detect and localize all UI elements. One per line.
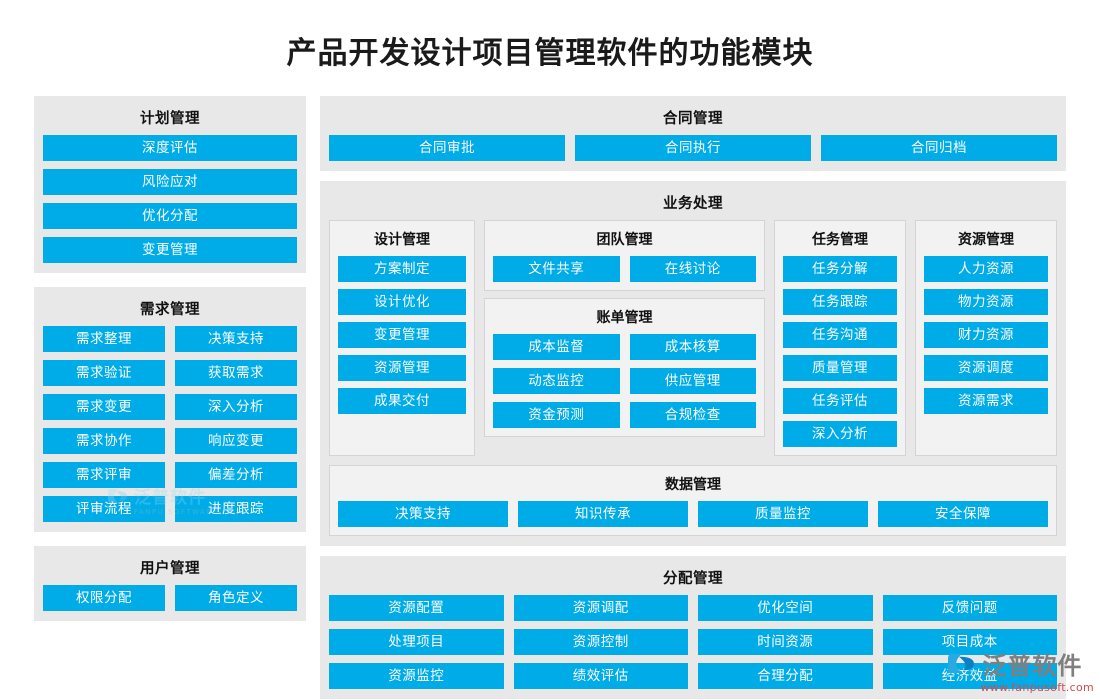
module-chip[interactable]: 角色定义: [175, 585, 297, 611]
diagram-canvas: 产品开发设计项目管理软件的功能模块 计划管理 深度评估 风险应对 优化分配 变更…: [0, 0, 1100, 700]
module-chip[interactable]: 深入分析: [783, 421, 897, 447]
module-chip[interactable]: 需求验证: [43, 360, 165, 386]
section-requirement-management: 需求管理 需求整理 决策支持 需求验证 获取需求 需求变更 深入分析 需求协作 …: [34, 287, 306, 532]
user-items: 权限分配 角色定义: [43, 585, 297, 611]
module-chip[interactable]: 合同审批: [329, 135, 565, 161]
section-title: 用户管理: [43, 554, 297, 585]
module-chip[interactable]: 供应管理: [630, 368, 757, 394]
module-chip[interactable]: 成果交付: [338, 388, 466, 414]
module-chip[interactable]: 评审流程: [43, 496, 165, 522]
module-chip[interactable]: 资金预测: [493, 402, 620, 428]
module-chip[interactable]: 在线讨论: [630, 256, 757, 282]
module-chip[interactable]: 资源需求: [924, 388, 1048, 414]
section-plan-management: 计划管理 深度评估 风险应对 优化分配 变更管理: [34, 96, 306, 273]
section-title: 计划管理: [43, 104, 297, 135]
section-title: 合同管理: [329, 104, 1057, 135]
module-chip[interactable]: 质量监控: [698, 501, 868, 527]
business-columns: 设计管理 方案制定 设计优化 变更管理 资源管理 成果交付 团队管理 文件共享: [329, 220, 1057, 456]
module-chip[interactable]: 需求变更: [43, 394, 165, 420]
section-allocation-management: 分配管理 资源配置 资源调配 优化空间 反馈问题 处理项目 资源控制 时间资源 …: [320, 556, 1066, 699]
section-title: 需求管理: [43, 295, 297, 326]
module-chip[interactable]: 成本监督: [493, 334, 620, 360]
module-chip[interactable]: 物力资源: [924, 289, 1048, 315]
card-title: 团队管理: [493, 227, 756, 256]
allocation-items: 资源配置 资源调配 优化空间 反馈问题 处理项目 资源控制 时间资源 项目成本 …: [329, 595, 1057, 689]
module-chip[interactable]: 知识传承: [518, 501, 688, 527]
module-chip[interactable]: 进度跟踪: [175, 496, 297, 522]
module-chip[interactable]: 深入分析: [175, 394, 297, 420]
requirement-items: 需求整理 决策支持 需求验证 获取需求 需求变更 深入分析 需求协作 响应变更 …: [43, 326, 297, 522]
section-user-management: 用户管理 权限分配 角色定义: [34, 546, 306, 621]
module-chip[interactable]: 处理项目: [329, 629, 504, 655]
module-chip[interactable]: 任务沟通: [783, 322, 897, 348]
module-chip[interactable]: 获取需求: [175, 360, 297, 386]
module-chip[interactable]: 任务跟踪: [783, 289, 897, 315]
card-task-management: 任务管理 任务分解 任务跟踪 任务沟通 质量管理 任务评估 深入分析: [774, 220, 906, 456]
card-resource-management: 资源管理 人力资源 物力资源 财力资源 资源调度 资源需求: [915, 220, 1057, 456]
data-management-items: 决策支持 知识传承 质量监控 安全保障: [338, 501, 1048, 527]
module-board: 计划管理 深度评估 风险应对 优化分配 变更管理 需求管理 需求整理 决策支持 …: [34, 96, 1066, 688]
card-bill-management: 账单管理 成本监督 成本核算 动态监控 供应管理 资金预测 合规检查: [484, 298, 765, 437]
module-chip[interactable]: 质量管理: [783, 355, 897, 381]
module-chip[interactable]: 需求整理: [43, 326, 165, 352]
module-chip[interactable]: 需求评审: [43, 462, 165, 488]
section-business-processing: 业务处理 设计管理 方案制定 设计优化 变更管理 资源管理 成果交付: [320, 181, 1066, 546]
module-chip[interactable]: 资源调配: [514, 595, 689, 621]
module-chip[interactable]: 响应变更: [175, 428, 297, 454]
module-chip[interactable]: 资源管理: [338, 355, 466, 381]
business-middle-column: 团队管理 文件共享 在线讨论 账单管理 成本监督 成本核算 动态监控: [484, 220, 765, 456]
module-chip[interactable]: 深度评估: [43, 135, 297, 161]
module-chip[interactable]: 资源调度: [924, 355, 1048, 381]
module-chip[interactable]: 设计优化: [338, 289, 466, 315]
module-chip[interactable]: 绩效评估: [514, 663, 689, 689]
section-title: 分配管理: [329, 564, 1057, 595]
module-chip[interactable]: 成本核算: [630, 334, 757, 360]
module-chip[interactable]: 合理分配: [698, 663, 873, 689]
module-chip[interactable]: 项目成本: [883, 629, 1058, 655]
module-chip[interactable]: 风险应对: [43, 169, 297, 195]
left-column: 计划管理 深度评估 风险应对 优化分配 变更管理 需求管理 需求整理 决策支持 …: [34, 96, 306, 688]
module-chip[interactable]: 方案制定: [338, 256, 466, 282]
module-chip[interactable]: 变更管理: [43, 237, 297, 263]
module-chip[interactable]: 合同执行: [575, 135, 811, 161]
module-chip[interactable]: 财力资源: [924, 322, 1048, 348]
module-chip[interactable]: 变更管理: [338, 322, 466, 348]
module-chip[interactable]: 文件共享: [493, 256, 620, 282]
plan-items: 深度评估 风险应对 优化分配 变更管理: [43, 135, 297, 263]
module-chip[interactable]: 时间资源: [698, 629, 873, 655]
module-chip[interactable]: 经济效益: [883, 663, 1058, 689]
card-title: 账单管理: [493, 305, 756, 334]
module-chip[interactable]: 反馈问题: [883, 595, 1058, 621]
contract-items: 合同审批 合同执行 合同归档: [329, 135, 1057, 161]
module-chip[interactable]: 决策支持: [175, 326, 297, 352]
team-items: 文件共享 在线讨论: [493, 256, 756, 282]
card-title: 数据管理: [338, 472, 1048, 501]
card-data-management: 数据管理 决策支持 知识传承 质量监控 安全保障: [329, 465, 1057, 536]
module-chip[interactable]: 偏差分析: [175, 462, 297, 488]
module-chip[interactable]: 权限分配: [43, 585, 165, 611]
card-title: 资源管理: [924, 227, 1048, 256]
right-column: 合同管理 合同审批 合同执行 合同归档 业务处理 设计管理 方案制定 设计优化 …: [320, 96, 1066, 688]
module-chip[interactable]: 资源控制: [514, 629, 689, 655]
module-chip[interactable]: 任务评估: [783, 388, 897, 414]
card-title: 设计管理: [338, 227, 466, 256]
card-team-management: 团队管理 文件共享 在线讨论: [484, 220, 765, 291]
module-chip[interactable]: 资源监控: [329, 663, 504, 689]
card-title: 任务管理: [783, 227, 897, 256]
section-contract-management: 合同管理 合同审批 合同执行 合同归档: [320, 96, 1066, 171]
module-chip[interactable]: 合同归档: [821, 135, 1057, 161]
module-chip[interactable]: 资源配置: [329, 595, 504, 621]
module-chip[interactable]: 决策支持: [338, 501, 508, 527]
module-chip[interactable]: 需求协作: [43, 428, 165, 454]
section-title: 业务处理: [329, 189, 1057, 220]
module-chip[interactable]: 动态监控: [493, 368, 620, 394]
module-chip[interactable]: 合规检查: [630, 402, 757, 428]
card-design-management: 设计管理 方案制定 设计优化 变更管理 资源管理 成果交付: [329, 220, 475, 456]
module-chip[interactable]: 优化分配: [43, 203, 297, 229]
bill-items: 成本监督 成本核算 动态监控 供应管理 资金预测 合规检查: [493, 334, 756, 428]
module-chip[interactable]: 人力资源: [924, 256, 1048, 282]
page-title: 产品开发设计项目管理软件的功能模块: [0, 0, 1100, 82]
module-chip[interactable]: 优化空间: [698, 595, 873, 621]
module-chip[interactable]: 安全保障: [878, 501, 1048, 527]
module-chip[interactable]: 任务分解: [783, 256, 897, 282]
